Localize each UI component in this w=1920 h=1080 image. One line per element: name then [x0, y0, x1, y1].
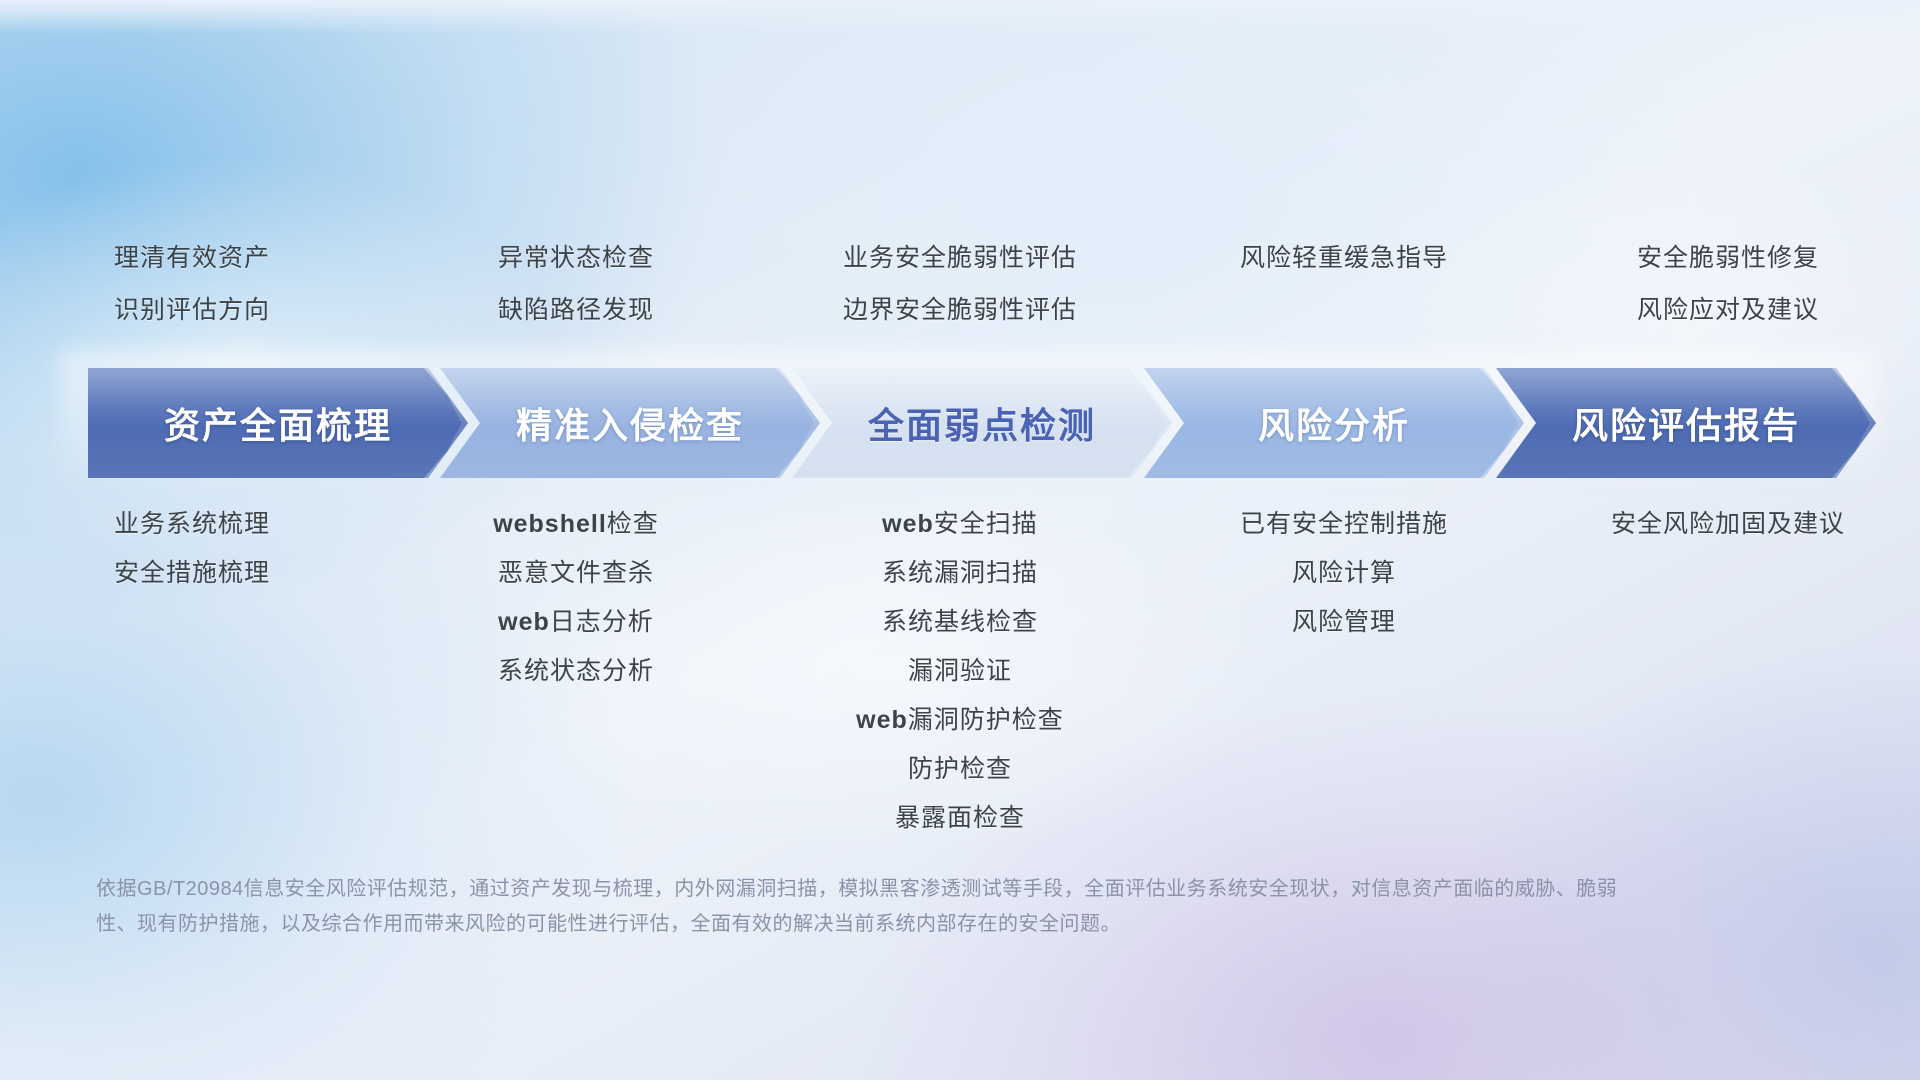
bottom-item: 漏洞验证: [768, 647, 1152, 696]
top-caption: 安全脆弱性修复: [1536, 232, 1920, 284]
bottom-item: 风险管理: [1152, 598, 1536, 647]
bottom-item: 安全风险加固及建议: [1536, 500, 1920, 549]
top-caption: 风险应对及建议: [1536, 284, 1920, 336]
process-arrow-asset-inventory[interactable]: 资产全面梳理: [88, 368, 468, 478]
bottom-item-text: 日志分析: [550, 608, 654, 636]
process-arrow-band: 资产全面梳理精准入侵检查全面弱点检测风险分析风险评估报告: [88, 368, 1848, 478]
process-arrow-risk-analysis[interactable]: 风险分析: [1144, 368, 1524, 478]
bottom-item: 防护检查: [768, 745, 1152, 794]
bottom-item-group-risk-analysis: 已有安全控制措施风险计算风险管理: [1152, 500, 1536, 647]
process-arrow-label: 精准入侵检查: [516, 397, 744, 449]
bottom-item-group-intrusion-check: webshell检查恶意文件查杀web日志分析系统状态分析: [384, 500, 768, 696]
bottom-item: web安全扫描: [768, 500, 1152, 549]
bottom-item: 风险计算: [1152, 549, 1536, 598]
bottom-item: 系统状态分析: [384, 647, 768, 696]
bottom-item: 恶意文件查杀: [384, 549, 768, 598]
top-caption: 缺陷路径发现: [384, 284, 768, 336]
process-arrow-label: 风险分析: [1258, 397, 1410, 449]
bottom-item-group-risk-report: 安全风险加固及建议: [1536, 500, 1920, 549]
top-caption: 风险轻重缓急指导: [1152, 232, 1536, 284]
bottom-item: 业务系统梳理: [0, 500, 384, 549]
bottom-item-group-asset-inventory: 业务系统梳理安全措施梳理: [0, 500, 384, 598]
bottom-item: 系统基线检查: [768, 598, 1152, 647]
bottom-item-text: 检查: [607, 510, 659, 538]
bottom-item-text: 漏洞防护检查: [908, 706, 1064, 734]
top-caption: 理清有效资产: [0, 232, 384, 284]
bottom-items-row: 业务系统梳理安全措施梳理webshell检查恶意文件查杀web日志分析系统状态分…: [0, 500, 1920, 843]
bottom-item: webshell检查: [384, 500, 768, 549]
top-caption: 识别评估方向: [0, 284, 384, 336]
bottom-item-keyword: web: [882, 510, 934, 538]
bottom-item: 系统漏洞扫描: [768, 549, 1152, 598]
bottom-item: 安全措施梳理: [0, 549, 384, 598]
bottom-item: 暴露面检查: [768, 794, 1152, 843]
bottom-item-keyword: web: [856, 706, 908, 734]
bottom-item: 已有安全控制措施: [1152, 500, 1536, 549]
process-arrow-weakness-detection[interactable]: 全面弱点检测: [792, 368, 1172, 478]
bottom-item: web日志分析: [384, 598, 768, 647]
top-caption: 异常状态检查: [384, 232, 768, 284]
bottom-item-keyword: web: [498, 608, 550, 636]
bottom-item-keyword: webshell: [493, 510, 607, 538]
process-arrow-intrusion-check[interactable]: 精准入侵检查: [440, 368, 820, 478]
bottom-item: web漏洞防护检查: [768, 696, 1152, 745]
top-caption: 业务安全脆弱性评估: [768, 232, 1152, 284]
risk-assessment-process-diagram: 理清有效资产识别评估方向异常状态检查缺陷路径发现业务安全脆弱性评估边界安全脆弱性…: [0, 0, 1920, 1080]
process-arrow-label: 资产全面梳理: [164, 397, 392, 449]
top-caption: 边界安全脆弱性评估: [768, 284, 1152, 336]
process-arrow-label: 风险评估报告: [1572, 397, 1800, 449]
process-arrow-label: 全面弱点检测: [868, 397, 1096, 449]
bottom-item-group-weakness-detection: web安全扫描系统漏洞扫描系统基线检查漏洞验证web漏洞防护检查防护检查暴露面检…: [768, 500, 1152, 843]
footer-description: 依据GB/T20984信息安全风险评估规范，通过资产发现与梳理，内外网漏洞扫描，…: [96, 872, 1636, 942]
bottom-item-text: 安全扫描: [934, 510, 1038, 538]
process-arrow-risk-report[interactable]: 风险评估报告: [1496, 368, 1876, 478]
